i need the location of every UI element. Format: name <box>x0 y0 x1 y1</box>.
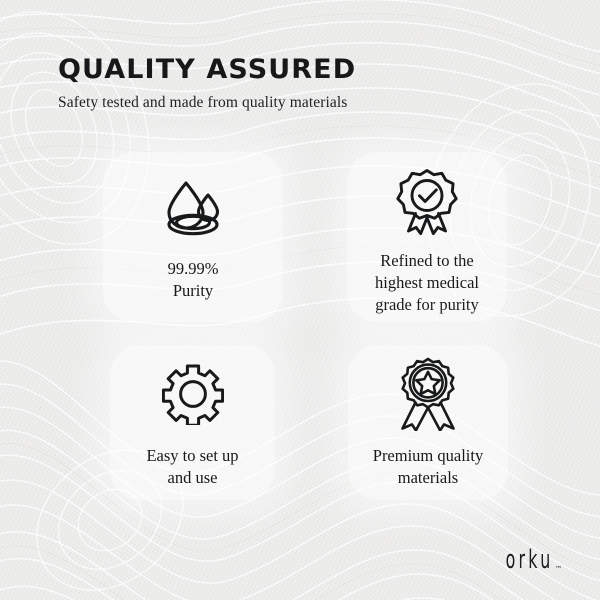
feature-card-label-line1: Premium quality <box>373 445 483 467</box>
brand-logo: orku ™ <box>487 552 562 574</box>
feature-card-label: 99.99% Purity <box>162 258 225 302</box>
feature-card-label-line1: Refined to the <box>375 250 479 272</box>
feature-card-label: Refined to the highest medical grade for… <box>369 250 485 315</box>
award-badge-check-icon <box>395 168 459 236</box>
brand-name: orku <box>506 548 554 574</box>
feature-card-label-line1: 99.99% <box>168 258 219 280</box>
feature-card-easy-setup: Easy to set up and use <box>110 345 275 500</box>
feature-card-label-line2: and use <box>146 467 238 489</box>
award-medal-star-icon <box>393 359 463 429</box>
feature-card-purity: 99.99% Purity <box>103 152 283 322</box>
feature-card-premium-materials: Premium quality materials <box>348 345 508 500</box>
water-droplet-icon <box>156 176 230 242</box>
feature-card-label-line2: highest medical <box>375 272 479 294</box>
gear-icon <box>162 363 224 425</box>
feature-card-label-line2: Purity <box>168 280 219 302</box>
feature-card-label-line3: grade for purity <box>375 294 479 316</box>
page-title: QUALITY ASSURED <box>58 56 356 84</box>
trademark-icon: ™ <box>555 565 562 573</box>
feature-card-label-line2: materials <box>373 467 483 489</box>
feature-card-label: Easy to set up and use <box>140 445 244 489</box>
page-subtitle: Safety tested and made from quality mate… <box>58 94 356 112</box>
header: QUALITY ASSURED Safety tested and made f… <box>58 56 356 112</box>
promo-graphic: 99.99% Purity Refined to the highest med… <box>0 0 600 600</box>
feature-card-medical-grade: Refined to the highest medical grade for… <box>347 152 507 322</box>
feature-card-label: Premium quality materials <box>367 445 489 489</box>
feature-card-label-line1: Easy to set up <box>146 445 238 467</box>
